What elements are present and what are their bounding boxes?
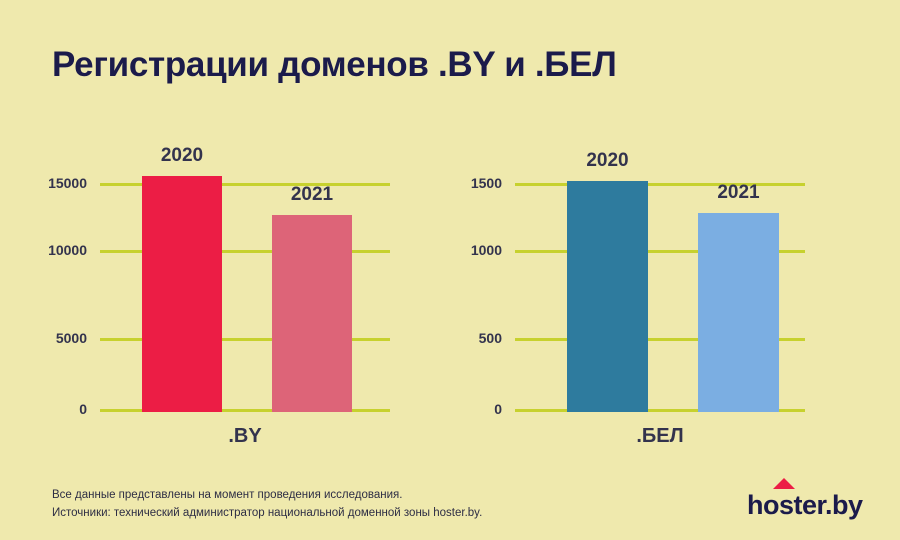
roof-chevron-icon xyxy=(773,478,795,489)
xaxis-label-bel: .БЕЛ xyxy=(515,425,805,448)
infographic-canvas: Регистрации доменов .BY и .БЕЛ 15000 100… xyxy=(0,0,900,540)
ytick-bel-0: 0 xyxy=(494,401,502,417)
ytick-bel-500: 500 xyxy=(479,330,502,346)
bar-bel-2020[interactable]: 2020 xyxy=(567,181,648,412)
bar-label-by-2021: 2021 xyxy=(291,184,333,206)
chart-by: 15000 10000 5000 0 2020 2021 .BY xyxy=(0,0,450,540)
footer-note-line1: Все данные представлены на момент провед… xyxy=(52,487,482,505)
bar-by-2021[interactable]: 2021 xyxy=(272,215,352,412)
bar-label-by-2020: 2020 xyxy=(161,145,203,167)
ytick-bel-1000: 1000 xyxy=(471,242,502,258)
bar-by-2020[interactable]: 2020 xyxy=(142,176,222,412)
gridline-bel-3: 1500 xyxy=(515,183,805,186)
ytick-bel-1500: 1500 xyxy=(471,175,502,191)
bar-label-bel-2020: 2020 xyxy=(586,150,628,172)
bar-bel-2021[interactable]: 2021 xyxy=(698,213,779,412)
hoster-by-logo[interactable]: hoster.by xyxy=(747,478,862,524)
ytick-by-5000: 5000 xyxy=(56,330,87,346)
xaxis-label-by: .BY xyxy=(100,425,390,448)
bar-label-bel-2021: 2021 xyxy=(717,182,759,204)
footer-notes: Все данные представлены на момент провед… xyxy=(52,487,482,523)
ytick-by-10000: 10000 xyxy=(48,242,87,258)
chart-bel: 1500 1000 500 0 2020 2021 .БЕЛ xyxy=(450,0,900,540)
ytick-by-15000: 15000 xyxy=(48,175,87,191)
footer-note-line2: Источники: технический администратор нац… xyxy=(52,505,482,523)
plot-area-by: 15000 10000 5000 0 2020 2021 xyxy=(100,170,390,412)
ytick-by-0: 0 xyxy=(79,401,87,417)
logo-text: hoster.by xyxy=(747,490,863,521)
plot-area-bel: 1500 1000 500 0 2020 2021 xyxy=(515,170,805,412)
